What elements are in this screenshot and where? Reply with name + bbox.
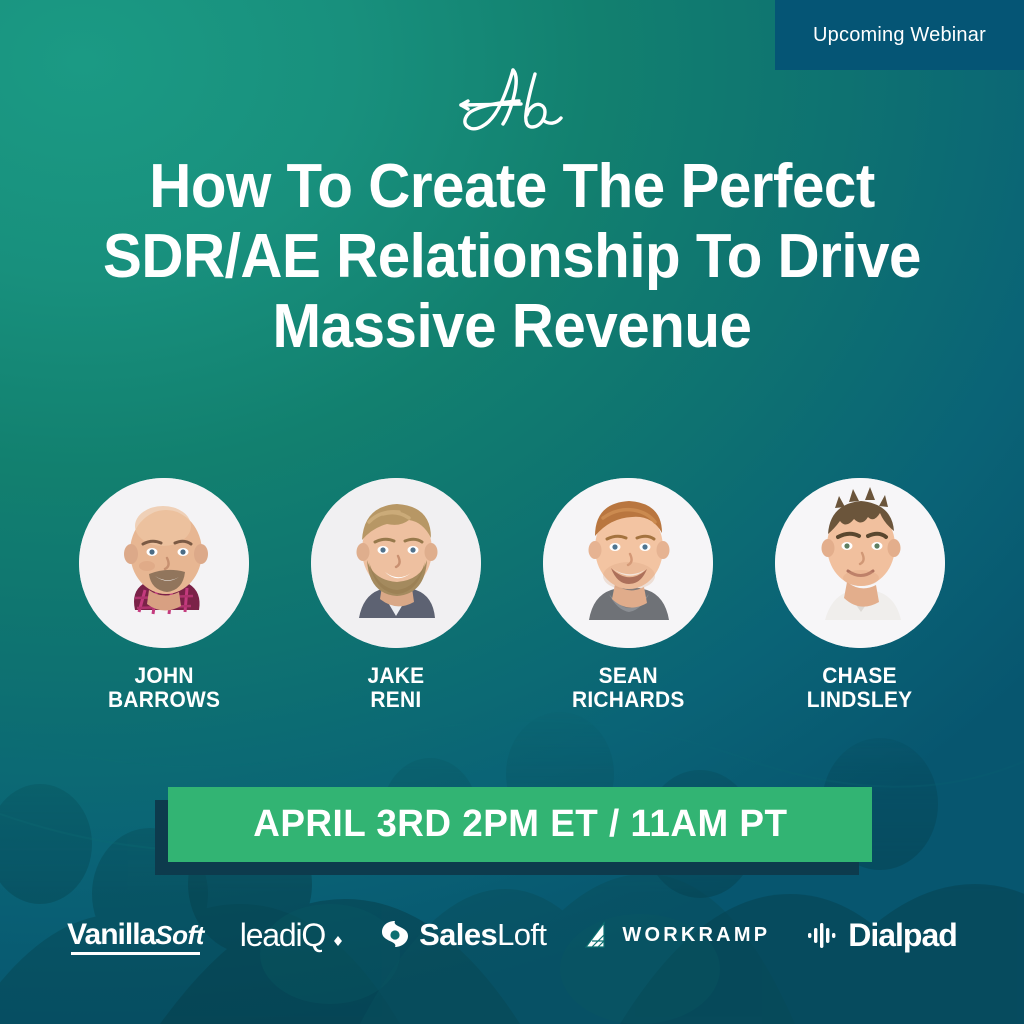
speaker-card: CHASE LINDSLEY [775,478,945,712]
speaker-last-name: BARROWS [108,688,220,712]
sponsor-dialpad: Dialpad [806,917,957,954]
speaker-first-name: SEAN [572,664,685,688]
speaker-card: SEAN RICHARDS [543,478,713,712]
speaker-last-name: RENI [368,688,425,712]
sponsor-workramp: WORKRAMP [582,919,770,951]
sponsor-logo-row: VanillaSoft leadiQ SalesLoft [0,905,1024,965]
upcoming-webinar-badge: Upcoming Webinar [775,0,1024,70]
speaker-name: JOHN BARROWS [108,664,220,712]
dialpad-wordmark: Dialpad [848,917,957,954]
jake-reni-avatar [311,478,481,648]
speaker-last-name: LINDSLEY [807,688,913,712]
webinar-promo-canvas: Upcoming Webinar How To Create The Perfe… [0,0,1024,1024]
salesloft-swirl-icon [379,919,411,951]
speaker-first-name: CHASE [807,664,913,688]
title-line-3: Massive Revenue [68,292,955,362]
speaker-name: SEAN RICHARDS [572,664,685,712]
vanillasoft-underline [71,952,200,955]
speaker-card: JAKE RENI [311,478,481,712]
vanillasoft-part2: Soft [155,920,204,950]
vanillasoft-part1: Vanilla [67,918,155,951]
chase-lindsley-avatar [775,478,945,648]
date-banner-bar: APRIL 3RD 2PM ET / 11AM PT [168,787,872,862]
speaker-list: JOHN BARROWS [0,478,1024,712]
salesloft-wordmark: SalesLoft [419,917,546,953]
vanillasoft-wordmark: VanillaSoft [67,918,204,952]
jb-script-logo [437,62,587,142]
sponsor-leadiq: leadiQ [240,917,343,954]
title-line-2: SDR/AE Relationship To Drive [68,222,955,292]
speaker-name: JAKE RENI [368,664,425,712]
dialpad-waveform-icon [806,920,840,950]
speaker-name: CHASE LINDSLEY [807,664,913,712]
salesloft-part2: Loft [497,917,546,952]
sponsor-salesloft: SalesLoft [379,917,546,953]
date-banner-text: APRIL 3RD 2PM ET / 11AM PT [253,803,787,846]
badge-label: Upcoming Webinar [813,24,986,47]
leadiq-wordmark: leadiQ [240,917,325,954]
sponsor-vanillasoft: VanillaSoft [67,918,204,952]
speaker-card: JOHN BARROWS [79,478,249,712]
john-barrows-avatar [79,478,249,648]
date-banner: APRIL 3RD 2PM ET / 11AM PT [168,787,872,862]
speaker-last-name: RICHARDS [572,688,685,712]
workramp-wordmark: WORKRAMP [622,924,770,947]
salesloft-part1: Sales [419,917,497,952]
sean-richards-avatar [543,478,713,648]
speaker-first-name: JAKE [368,664,425,688]
speaker-first-name: JOHN [108,664,220,688]
workramp-triangle-icon [582,919,614,951]
leadiq-dot-icon [333,920,343,950]
page-title: How To Create The Perfect SDR/AE Relatio… [31,152,994,362]
title-line-1: How To Create The Perfect [68,152,955,222]
